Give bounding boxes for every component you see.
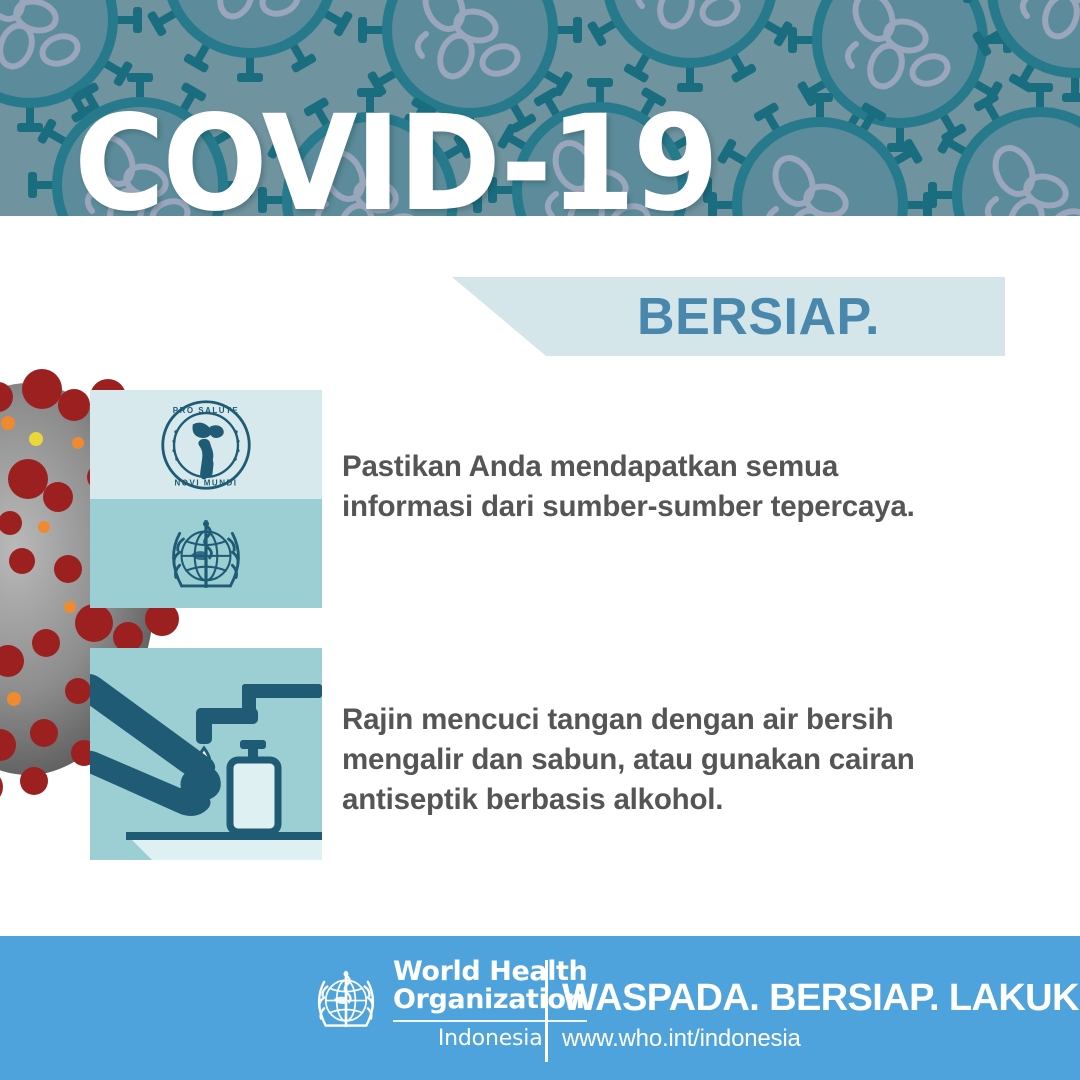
footer-slogan: WASPADA. BERSIAP. LAKUKAN. bbox=[562, 977, 1080, 1020]
who-org-line1: World Health bbox=[393, 958, 587, 986]
tip-icon-sources: PRO SALUTE NOVI MUNDI bbox=[90, 390, 322, 608]
who-emblem-icon bbox=[307, 960, 385, 1038]
who-org-line2: Organization bbox=[393, 986, 587, 1014]
who-logo-divider bbox=[393, 1020, 587, 1022]
footer-vertical-divider bbox=[545, 960, 548, 1062]
footer-url[interactable]: www.who.int/indonesia bbox=[562, 1025, 801, 1053]
header-banner: COVID-19 bbox=[0, 0, 1080, 216]
tip-text-handwashing: Rajin mencuci tangan dengan air bersih m… bbox=[342, 700, 1002, 820]
svg-text:PRO SALUTE: PRO SALUTE bbox=[173, 406, 240, 415]
paho-emblem-icon: PRO SALUTE NOVI MUNDI bbox=[90, 390, 322, 499]
who-emblem-icon bbox=[90, 499, 322, 608]
tip-icon-handwashing bbox=[90, 648, 322, 860]
tip-text-sources: Pastikan Anda mendapatkan semua informas… bbox=[342, 447, 922, 527]
who-country-label: Indonesia bbox=[393, 1027, 587, 1051]
handwashing-icon bbox=[90, 648, 322, 860]
footer-bar: World Health Organization Indonesia WASP… bbox=[0, 936, 1080, 1080]
bersiap-banner: BERSIAP. bbox=[452, 277, 1005, 356]
banner-label: BERSIAP. bbox=[577, 287, 880, 347]
svg-text:NOVI MUNDI: NOVI MUNDI bbox=[175, 478, 238, 487]
page-title: COVID-19 bbox=[74, 98, 716, 216]
